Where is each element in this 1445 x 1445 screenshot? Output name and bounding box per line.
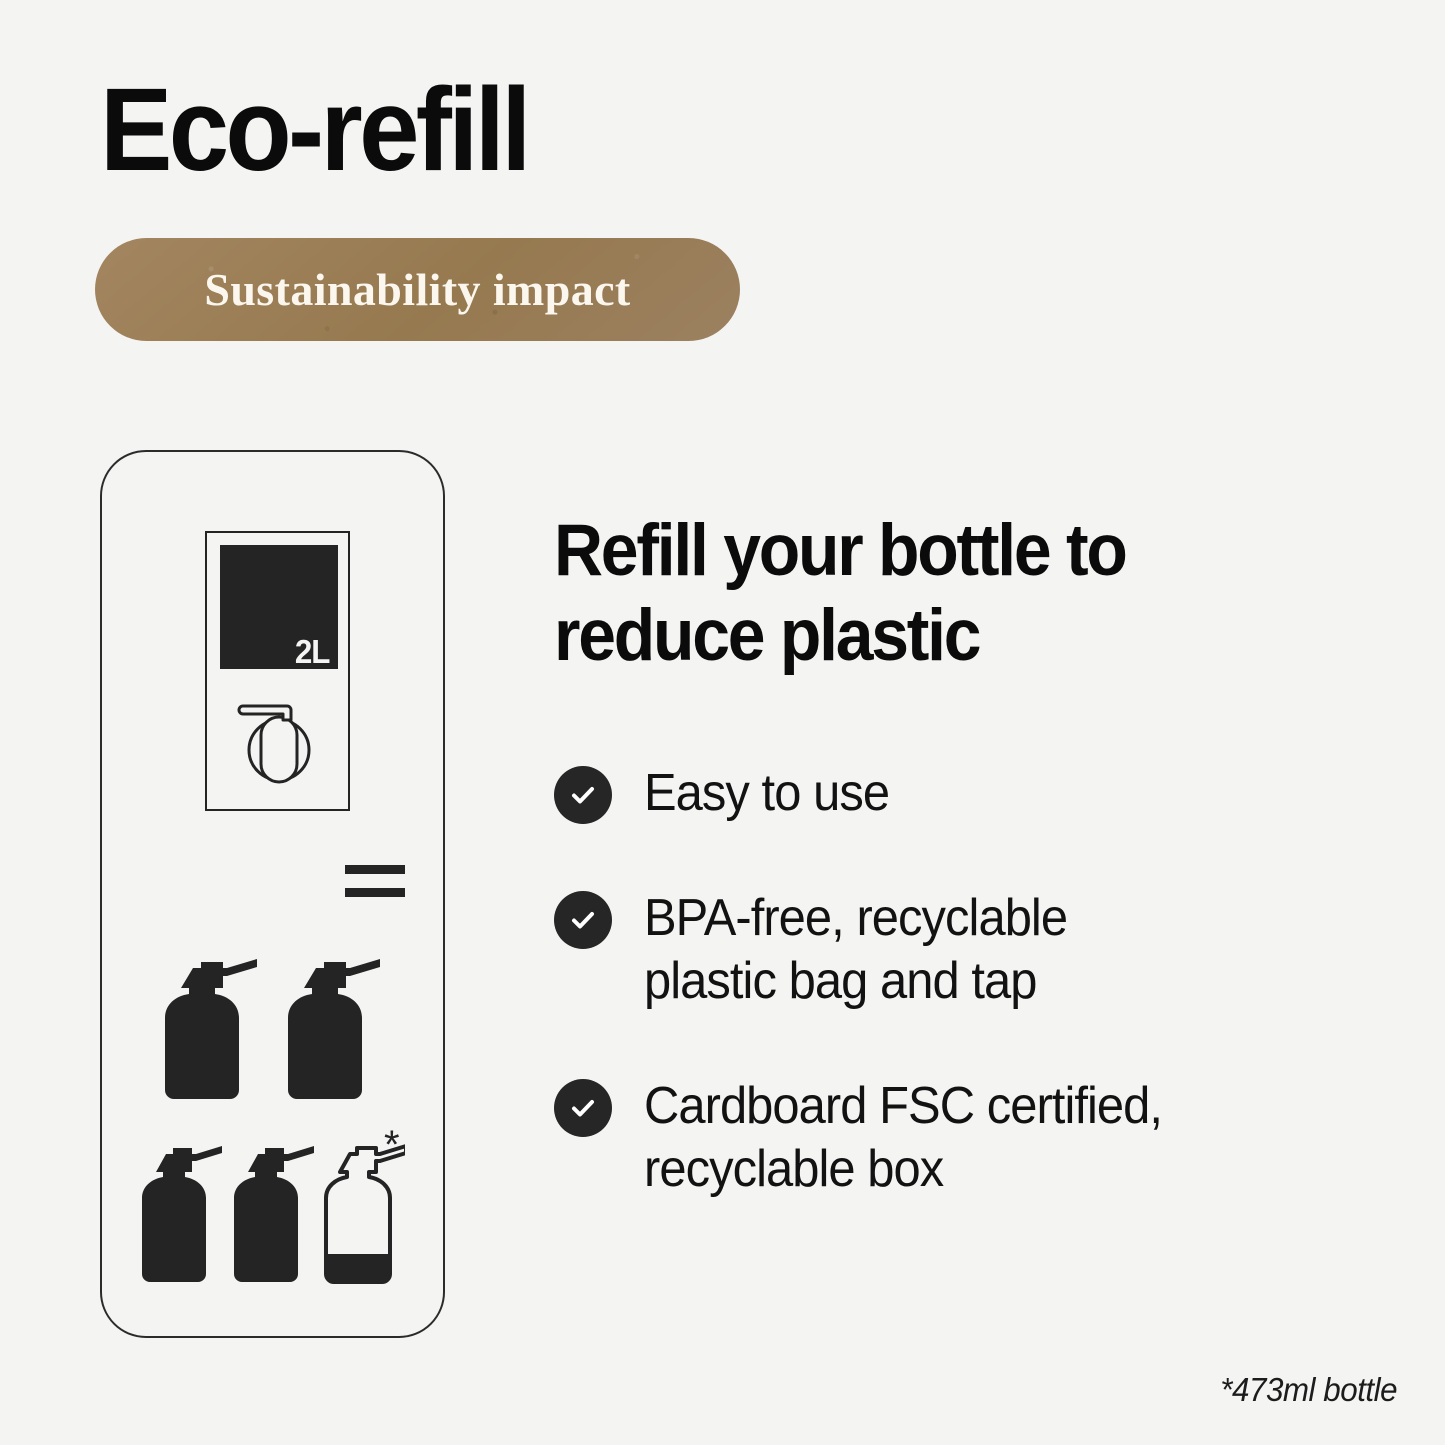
bottle-filled-4 [234,1146,314,1282]
bottle-filled-3 [142,1146,222,1282]
refill-box-graphic: 2L [205,531,350,811]
equals-sign-graphic [345,865,405,905]
list-item: BPA-free, recyclable plastic bag and tap [554,887,1414,1012]
refill-bag-graphic: 2L [220,545,338,669]
status-badge: Sustainability impact [95,238,740,341]
refill-illustration-card: 2L [100,450,445,1338]
check-icon [554,766,612,824]
bag-size-label: 2L [295,635,330,668]
bottle-row-two [157,945,392,1105]
feature-list: Easy to use BPA-free, recyclable plastic… [554,762,1414,1200]
main-heading: Refill your bottle to reduce plastic [554,508,1242,679]
asterisk-footnote-marker: * [384,1125,400,1165]
check-icon [554,1079,612,1137]
feature-label: Easy to use [644,762,889,824]
bottle-filled-2 [288,959,380,1099]
equals-bar-bottom [345,888,405,897]
list-item: Cardboard FSC certified, recyclable box [554,1075,1414,1200]
status-badge-label: Sustainability impact [204,263,630,316]
tap-spout-icon [231,693,327,788]
bottle-row-three [140,1130,405,1295]
check-icon [554,891,612,949]
equals-bar-top [345,865,405,874]
bottle-filled-1 [165,959,257,1099]
feature-label: BPA-free, recyclable plastic bag and tap [644,887,1067,1012]
footnote: *473ml bottle [1220,1371,1397,1409]
page-title: Eco-refill [100,70,528,190]
feature-label: Cardboard FSC certified, recyclable box [644,1075,1162,1200]
list-item: Easy to use [554,762,1414,824]
infographic-page: Eco-refill Sustainability impact 2L [0,0,1445,1445]
